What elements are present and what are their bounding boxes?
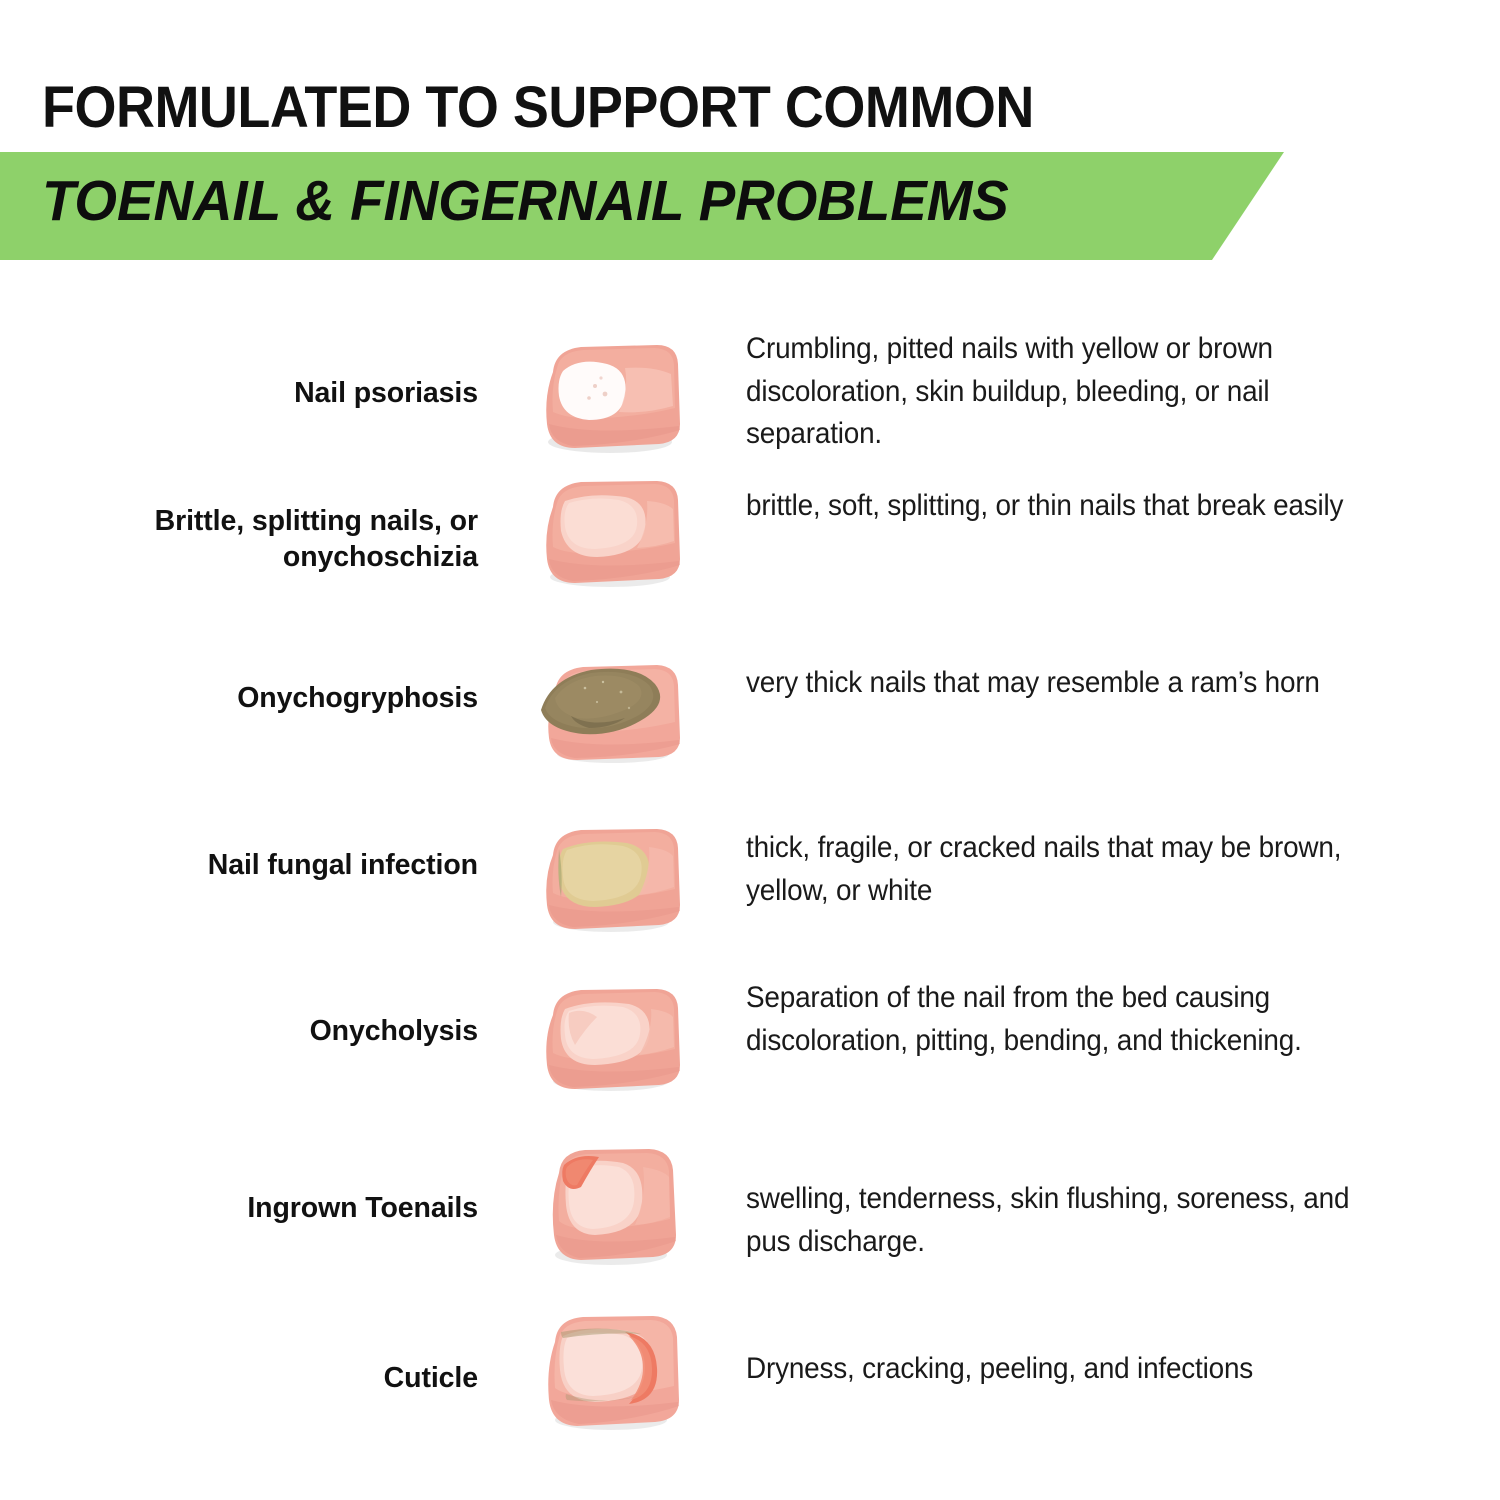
infographic-page: FORMULATED TO SUPPORT COMMON TOENAIL & F… xyxy=(0,0,1500,1500)
condition-label: Nail fungal infection xyxy=(8,847,478,883)
page-subtitle: TOENAIL & FINGERNAIL PROBLEMS xyxy=(42,168,1009,234)
nail-onychogryphosis-icon xyxy=(533,658,683,776)
condition-label: Ingrown Toenails xyxy=(8,1190,478,1226)
condition-description: thick, fragile, or cracked nails that ma… xyxy=(746,827,1397,912)
condition-label: Nail psoriasis xyxy=(8,375,478,411)
condition-description: brittle, soft, splitting, or thin nails … xyxy=(746,485,1397,528)
page-title: FORMULATED TO SUPPORT COMMON xyxy=(42,74,1034,141)
nail-psoriasis-icon xyxy=(533,338,683,456)
green-banner: TOENAIL & FINGERNAIL PROBLEMS xyxy=(0,152,1300,260)
condition-label: Brittle, splitting nails, or onychoschiz… xyxy=(8,503,478,576)
header: FORMULATED TO SUPPORT COMMON TOENAIL & F… xyxy=(0,0,1500,275)
condition-description: Separation of the nail from the bed caus… xyxy=(746,977,1397,1062)
condition-description: very thick nails that may resemble a ram… xyxy=(746,662,1397,705)
nail-onycholysis-icon xyxy=(533,983,683,1101)
nail-ingrown-icon xyxy=(533,1143,683,1271)
condition-description: swelling, tenderness, skin flushing, sor… xyxy=(746,1178,1397,1263)
condition-label: Onycholysis xyxy=(8,1013,478,1049)
condition-description: Crumbling, pitted nails with yellow or b… xyxy=(746,328,1397,456)
condition-label: Onychogryphosis xyxy=(8,680,478,716)
nail-fungal-icon xyxy=(533,823,683,941)
nail-cuticle-icon xyxy=(533,1310,683,1436)
condition-description: Dryness, cracking, peeling, and infectio… xyxy=(746,1348,1397,1391)
nail-brittle-icon xyxy=(533,475,683,593)
condition-label: Cuticle xyxy=(8,1360,478,1396)
